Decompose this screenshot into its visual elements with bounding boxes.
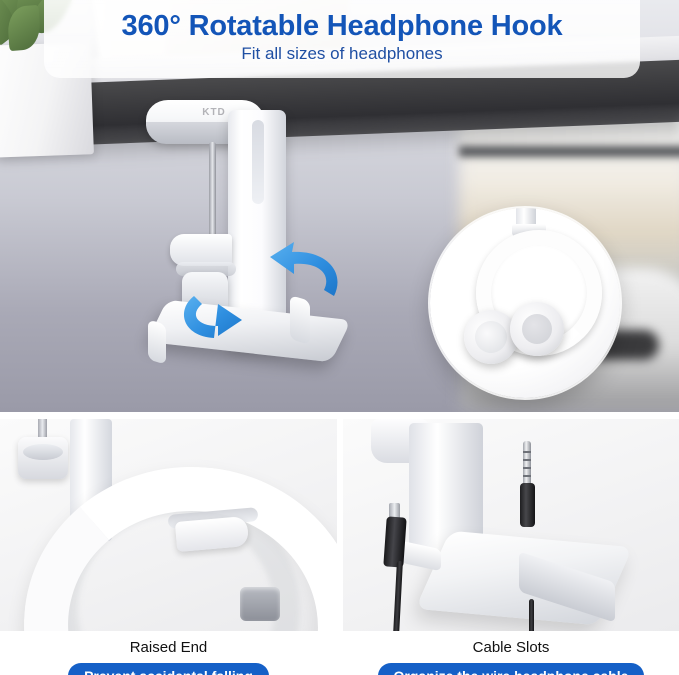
headphone-hook-product: KTD [140, 84, 380, 364]
audio-jack-barrel [520, 483, 535, 527]
audio-jack-pin [523, 441, 531, 485]
headphone-earcup-right [510, 302, 564, 356]
caption-pill: Organize the wire headphone cable [378, 663, 645, 675]
headphones [458, 226, 588, 376]
feature-image-raised-end [0, 419, 337, 631]
metal-clip [240, 587, 280, 621]
usb-connector-body [383, 516, 406, 567]
cable-left [393, 561, 403, 631]
page-title: 360° Rotatable Headphone Hook [44, 10, 640, 43]
caption-title: Raised End [0, 638, 337, 658]
caption-raised-end: Raised End Prevent accidental falling [0, 638, 337, 675]
product-feature-image: KTD [0, 0, 679, 675]
hero-section: KTD [0, 0, 679, 412]
caption-pill: Prevent accidental falling [68, 663, 269, 675]
page-subtitle: Fit all sizes of headphones [44, 44, 640, 64]
clamp-thumb-screw [18, 437, 68, 479]
hook-arc [13, 456, 337, 631]
usb-connector [385, 503, 405, 565]
feature-image-cable-slots [343, 419, 679, 631]
tray-raised-end-left [148, 319, 166, 364]
headphone-closeup-inset [430, 208, 620, 398]
caption-cable-slots: Cable Slots Organize the wire headphone … [343, 638, 679, 675]
features-section: Raised End Prevent accidental falling Ca… [0, 412, 679, 675]
hook-column-groove [252, 120, 264, 204]
caption-title: Cable Slots [343, 638, 679, 658]
audio-jack [519, 441, 535, 527]
rotation-arrows-icon [174, 240, 364, 360]
header-panel: 360° Rotatable Headphone Hook Fit all si… [44, 0, 640, 78]
cable-right [529, 599, 534, 631]
